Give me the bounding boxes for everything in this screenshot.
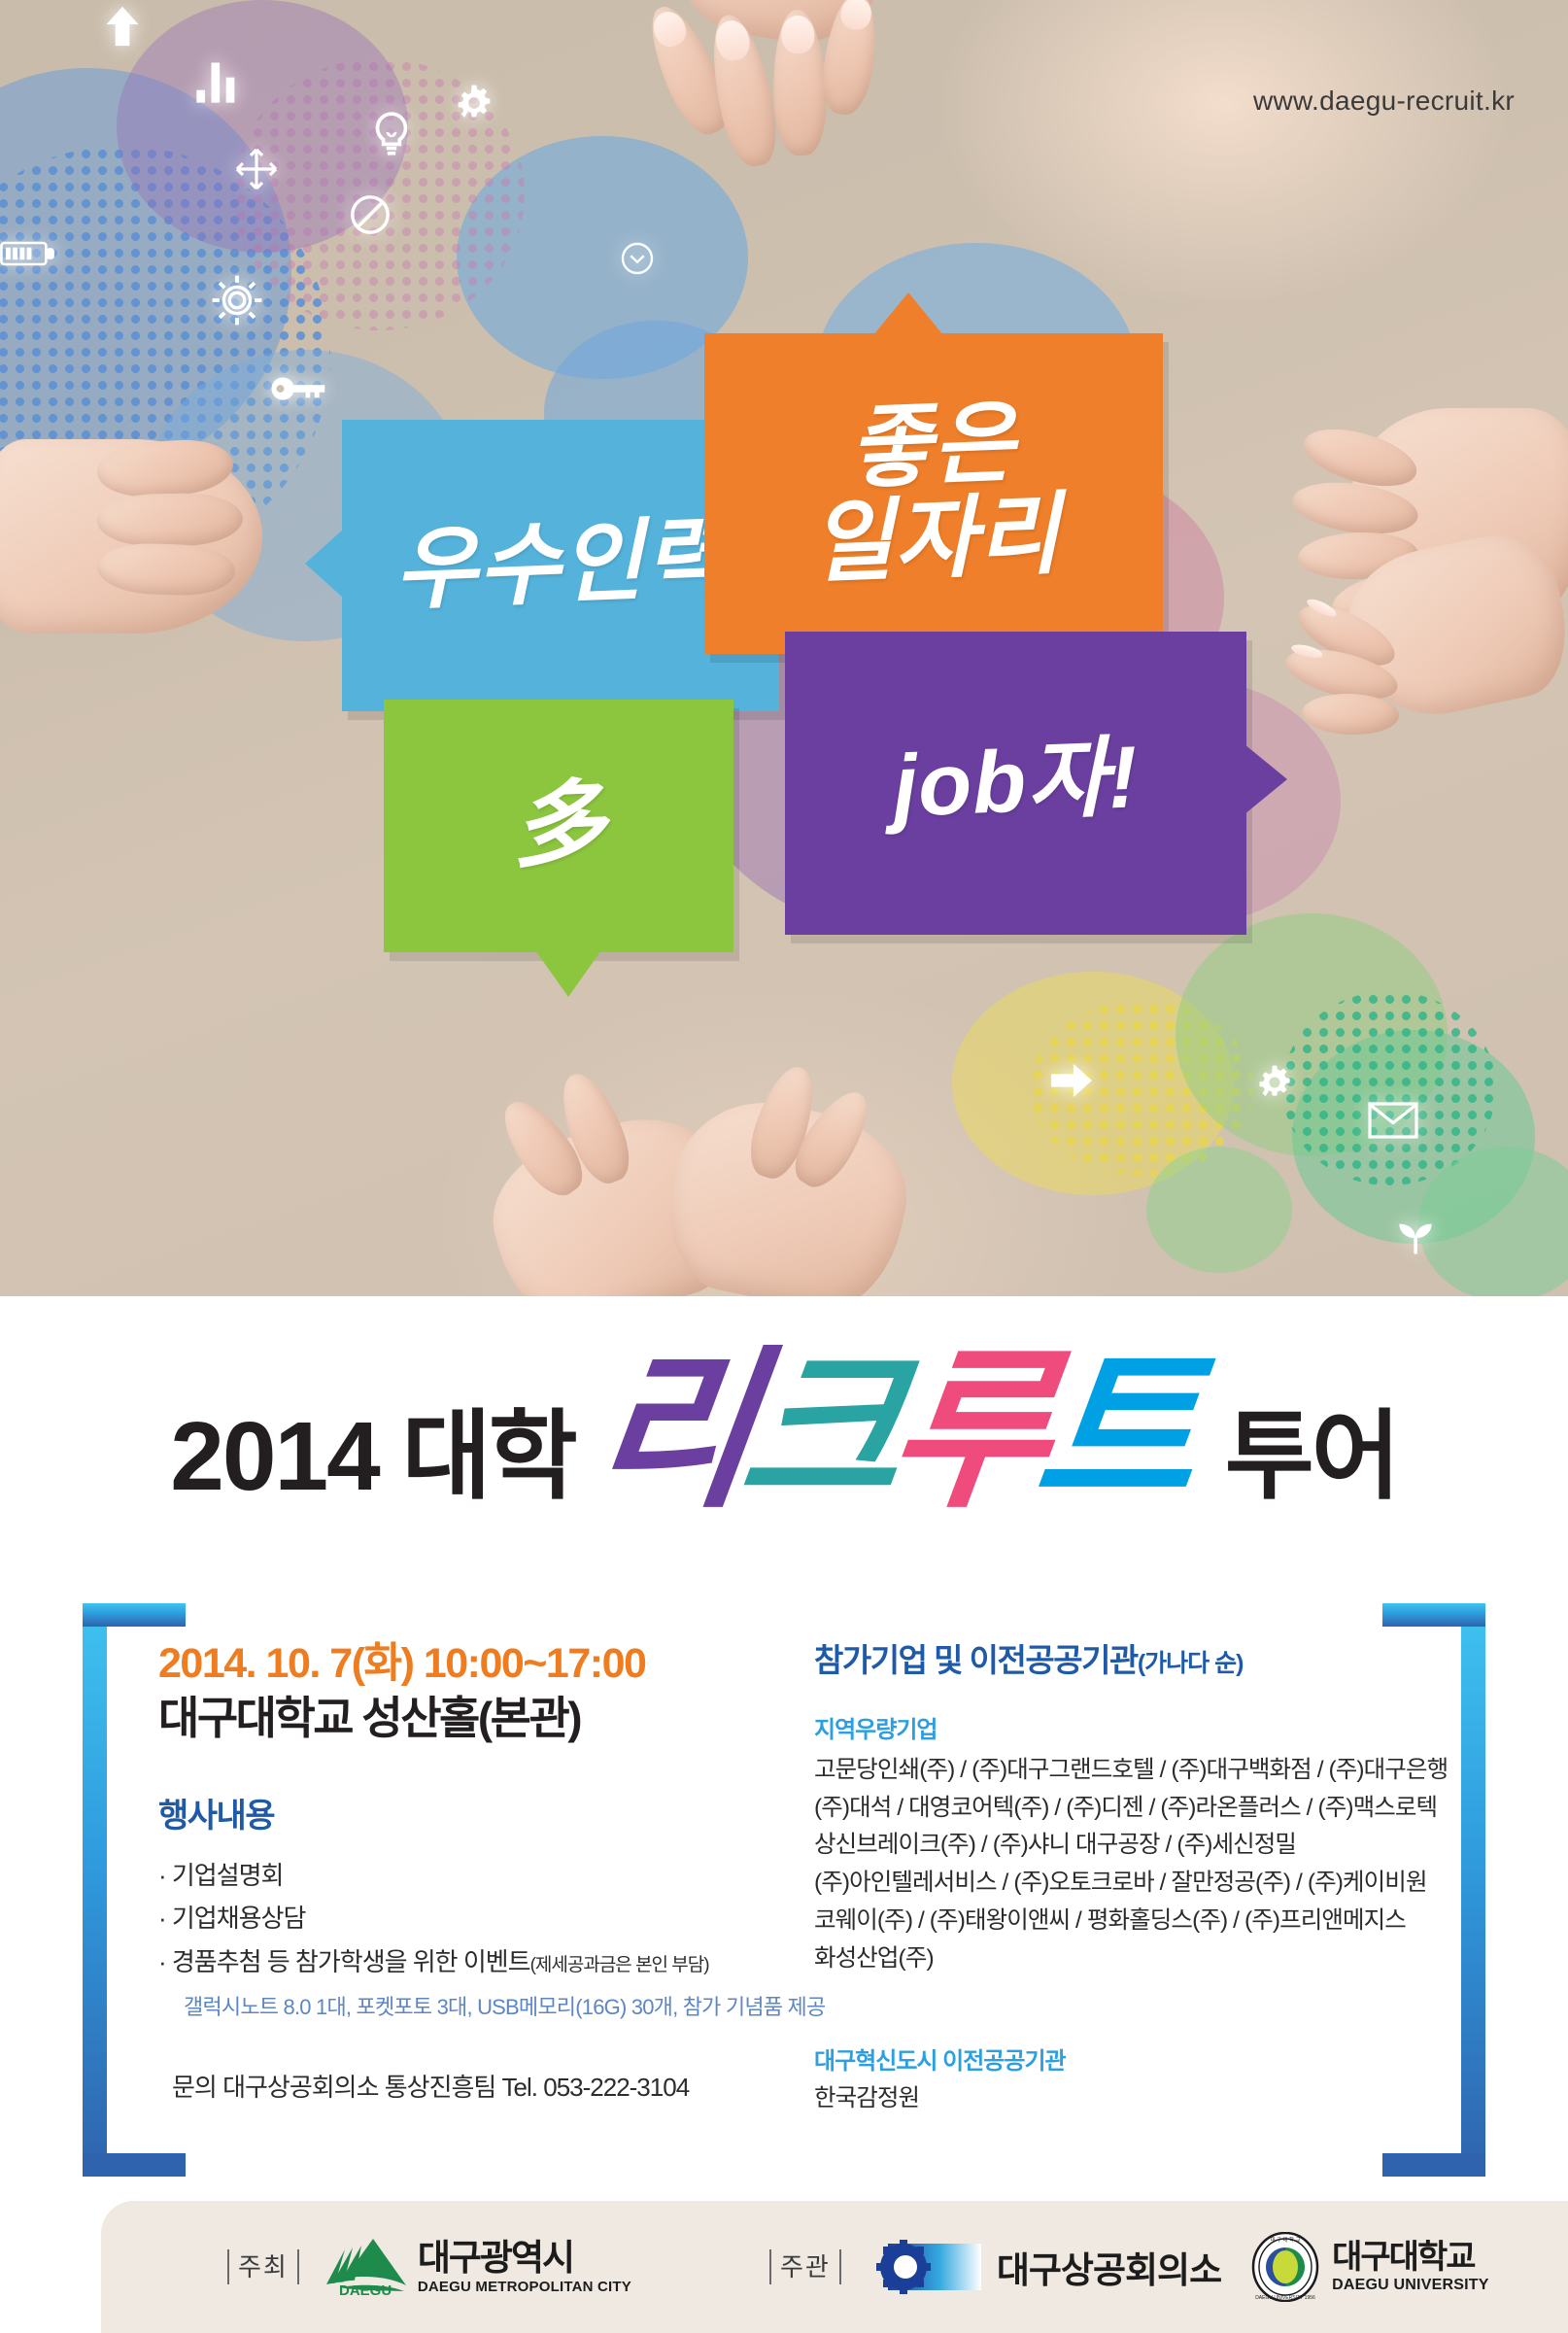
battery-icon	[0, 241, 54, 266]
local-companies-list: 고문당인쇄(주) / (주)대구그랜드호텔 / (주)대구백화점 / (주)대구…	[814, 1752, 1416, 1977]
host-name-en: DAEGU METROPOLITAN CITY	[418, 2280, 631, 2294]
university-text: 대구대학교 DAEGU UNIVERSITY	[1332, 2241, 1488, 2293]
hand-top-center	[612, 0, 933, 301]
title-univ: 대학	[402, 1408, 575, 1505]
companies-column: 참가기업 및 이전공공기관(가나다 순) 지역우량기업 고문당인쇄(주) / (…	[814, 1634, 1416, 2117]
title-char-teu: 트	[1030, 1356, 1196, 1505]
svg-text:DAEGU UNIVERSITY 1956: DAEGU UNIVERSITY 1956	[1255, 2295, 1315, 2301]
hand-left-fist	[0, 400, 272, 643]
list-item: 코웨이(주) / (주)태왕이앤씨 / 평화홀딩스(주) / (주)프리앤메지스	[814, 1903, 1416, 1940]
university-name-kr: 대구대학교	[1332, 2241, 1488, 2274]
envelope-icon	[1368, 1102, 1418, 1139]
bubble-orange-tail	[873, 292, 943, 335]
sponsor-footer: 주최 DAEGU 대구광역시 DAEGU METROPOLITAN CITY 주…	[101, 2201, 1568, 2333]
gear-logo-icon	[870, 2240, 985, 2294]
no-entry-icon	[348, 192, 392, 237]
daegu-university-logo: 대 구 대 학 교 DAEGU UNIVERSITY 1956 대구대학교 DA…	[1221, 2232, 1488, 2302]
website-url: www.daegu-recruit.kr	[1253, 86, 1515, 117]
program-bullet: · 기업채용상담	[158, 1897, 702, 1940]
chamber-of-commerce-logo: 대구상공회의소	[841, 2240, 1221, 2294]
event-details-column: 2014. 10. 7(화) 10:00~17:00 대구대학교 성산홀(본관)…	[158, 1640, 702, 2104]
list-item: 한국감정원	[814, 2081, 1416, 2117]
title-char-ri: 리	[587, 1356, 753, 1505]
program-bullets: · 기업설명회 · 기업채용상담 · 경품추첨 등 참가학생을 위한 이벤트(제…	[158, 1854, 702, 2021]
svg-text:대 구 대 학 교: 대 구 대 학 교	[1271, 2236, 1301, 2244]
list-item: 상신브레이크(주) / (주)샤니 대구공장 / (주)세신정밀	[814, 1827, 1416, 1865]
hero-image: 우수인력 좋은 일자리 多 job자!	[0, 0, 1568, 1296]
event-datetime: 2014. 10. 7(화) 10:00~17:00	[158, 1640, 702, 1688]
gear-mini-icon	[1256, 1064, 1293, 1101]
title-logo: 리 크 루 트	[597, 1356, 1186, 1505]
host-role-label: 주최	[227, 2249, 299, 2285]
hand-top-right	[1263, 564, 1554, 816]
university-name-en: DAEGU UNIVERSITY	[1332, 2278, 1488, 2293]
arrow-right-icon	[1049, 1062, 1094, 1099]
bubble-orange: 좋은 일자리	[704, 333, 1163, 654]
title-tour: 투어	[1225, 1408, 1398, 1505]
gear-icon	[209, 272, 265, 328]
bubble-green: 多	[384, 700, 733, 952]
public-institutions-label: 대구혁신도시 이전공공기관	[814, 2041, 1416, 2076]
sprout-icon	[1391, 1210, 1440, 1258]
companies-heading: 참가기업 및 이전공공기관(가나다 순)	[814, 1634, 1416, 1681]
bubble-green-label: 多	[510, 776, 608, 875]
info-section: 2014. 10. 7(화) 10:00~17:00 대구대학교 성산홀(본관)…	[0, 1603, 1568, 2196]
bubble-blue-label: 우수인력	[392, 514, 729, 618]
title-char-keu: 크	[734, 1356, 901, 1505]
daegu-city-logo: DAEGU 대구광역시 DAEGU METROPOLITAN CITY	[299, 2237, 631, 2297]
event-gifts: 갤럭시노트 8.0 1대, 포켓포토 3대, USB메모리(16G) 30개, …	[184, 1990, 702, 2021]
svg-text:DAEGU: DAEGU	[339, 2282, 392, 2297]
daegu-city-text: 대구광역시 DAEGU METROPOLITAN CITY	[418, 2240, 631, 2294]
bubble-purple: job자!	[785, 632, 1246, 935]
list-item: 고문당인쇄(주) / (주)대구그랜드호텔 / (주)대구백화점 / (주)대구…	[814, 1752, 1416, 1790]
university-seal-icon: 대 구 대 학 교 DAEGU UNIVERSITY 1956	[1250, 2232, 1320, 2302]
program-heading: 행사내용	[158, 1789, 702, 1836]
key-icon	[270, 371, 328, 406]
bubble-green-tail	[535, 950, 601, 997]
list-item: (주)대석 / 대영코어텍(주) / (주)디젠 / (주)라온플러스 / (주…	[814, 1790, 1416, 1828]
bubble-blue-tail	[305, 529, 344, 599]
host-name-kr: 대구광역시	[418, 2240, 631, 2276]
bar-chart-icon	[192, 56, 243, 107]
organizer-name-kr: 대구상공회의소	[997, 2241, 1221, 2293]
organizer-role-label: 주관	[769, 2249, 841, 2285]
bubble-purple-tail	[1244, 744, 1287, 814]
gear-small-icon	[455, 84, 494, 122]
bubble-green-4	[1146, 1147, 1292, 1273]
poster: 우수인력 좋은 일자리 多 job자!	[0, 0, 1568, 2333]
title-char-ru: 루	[882, 1356, 1048, 1505]
contact-info: 문의 대구상공회의소 통상진흥팀 Tel. 053-222-3104	[172, 2068, 702, 2104]
list-item: (주)아인텔레서비스 / (주)오토크로바 / 잘만정공(주) / (주)케이비…	[814, 1865, 1416, 1903]
title-year: 2014	[170, 1408, 378, 1505]
bubble-purple-label: job자!	[891, 734, 1140, 832]
daegu-mountain-icon: DAEGU	[324, 2237, 408, 2297]
list-item: 화성산업(주)	[814, 1940, 1416, 1978]
bubble-orange-label: 좋은 일자리	[805, 395, 1062, 591]
program-bullet: · 기업설명회	[158, 1854, 702, 1898]
lightbulb-icon	[367, 107, 416, 161]
move-arrows-icon	[233, 146, 280, 192]
local-companies-label: 지역우량기업	[814, 1710, 1416, 1744]
hand-bottom-center	[466, 1011, 933, 1296]
arrow-up-icon	[101, 4, 144, 49]
program-bullet: · 경품추첨 등 참가학생을 위한 이벤트(제세공과금은 본인 부담)	[158, 1940, 702, 1984]
page-title: 2014 대학 리 크 루 트 투어	[0, 1356, 1568, 1505]
event-venue: 대구대학교 성산홀(본관)	[158, 1692, 702, 1745]
